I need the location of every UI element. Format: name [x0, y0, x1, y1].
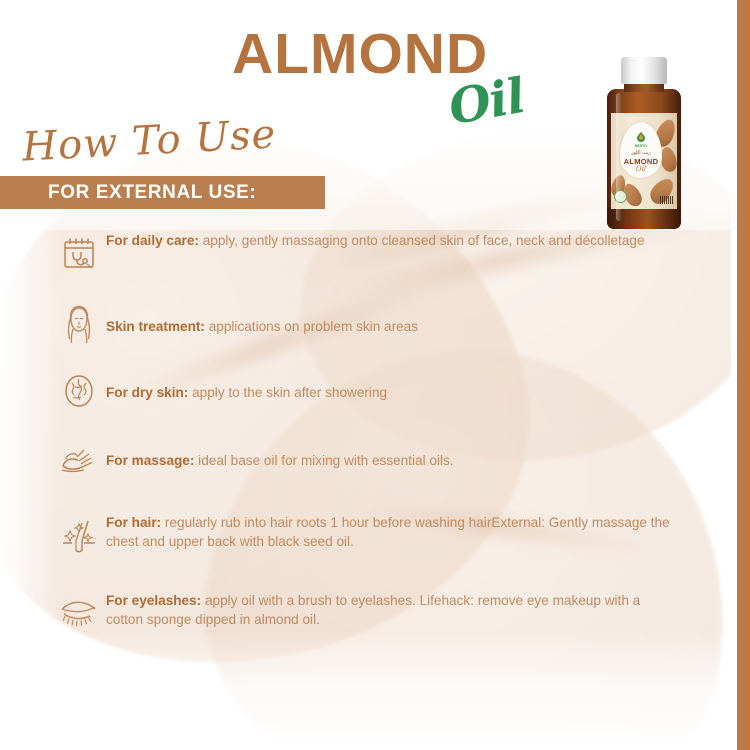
background-fade-left: [0, 0, 60, 750]
list-item-lead: For hair:: [106, 515, 161, 530]
list-item-text: For massage: ideal base oil for mixing w…: [106, 448, 672, 470]
list-item-text: Skin treatment: applications on problem …: [106, 314, 672, 336]
woman-face-icon: [52, 300, 106, 350]
external-use-label: FOR EXTERNAL USE:: [48, 180, 256, 206]
product-bottle-image: NESTO زيت اللوز ALMOND Oil: [603, 57, 685, 229]
title-oil-script: Oil: [444, 68, 528, 136]
eyelash-icon: [52, 588, 106, 638]
label-brand: NESTO: [620, 144, 662, 148]
hair-follicle-icon: [52, 510, 106, 560]
list-item: For daily care: apply, gently massaging …: [52, 228, 672, 278]
list-item-lead: For dry skin:: [106, 385, 188, 400]
right-accent-rail: [737, 0, 750, 750]
list-item-lead: For daily care:: [106, 233, 199, 248]
poster-title: ALMOND Oil: [232, 26, 562, 136]
list-item: For massage: ideal base oil for mixing w…: [52, 434, 672, 484]
usage-instructions-list: For daily care: apply, gently massaging …: [52, 228, 672, 638]
list-item-lead: For massage:: [106, 453, 194, 468]
list-item-text: For dry skin: apply to the skin after sh…: [106, 380, 672, 402]
list-item: For hair: regularly rub into hair roots …: [52, 510, 672, 560]
bottle-cap: [621, 57, 667, 84]
label-barcode: [660, 196, 674, 204]
label-droplet-panel: NESTO زيت اللوز ALMOND Oil: [620, 122, 662, 178]
label-oil-script: Oil: [620, 165, 662, 173]
list-item-body: applications on problem skin areas: [205, 319, 418, 334]
bottle-highlight: [616, 93, 622, 221]
leaf-drop-logo-icon: [634, 131, 648, 143]
calendar-stethoscope-icon: [52, 228, 106, 278]
list-item-body: regularly rub into hair roots 1 hour bef…: [106, 515, 670, 549]
dry-skin-icon: [52, 366, 106, 416]
list-item: For dry skin: apply to the skin after sh…: [52, 366, 672, 416]
list-item: For eyelashes: apply oil with a brush to…: [52, 588, 672, 638]
list-item-body: ideal base oil for mixing with essential…: [194, 453, 453, 468]
list-item: Skin treatment: applications on problem …: [52, 300, 672, 350]
list-item-lead: For eyelashes:: [106, 593, 201, 608]
list-item-body: apply, gently massaging onto cleansed sk…: [199, 233, 645, 248]
list-item-text: For eyelashes: apply oil with a brush to…: [106, 588, 672, 629]
list-item-text: For daily care: apply, gently massaging …: [106, 228, 672, 250]
list-item-lead: Skin treatment:: [106, 319, 205, 334]
massage-hands-icon: [52, 434, 106, 484]
how-to-use-heading: How To Use: [21, 111, 277, 170]
almond-oil-poster: ALMOND Oil How To Use FOR EXTERNAL USE: …: [0, 0, 750, 750]
background-fade-bottom: [0, 630, 750, 750]
list-item-text: For hair: regularly rub into hair roots …: [106, 510, 672, 551]
label-arabic-name: زيت اللوز: [620, 150, 662, 156]
list-item-body: apply to the skin after showering: [188, 385, 387, 400]
